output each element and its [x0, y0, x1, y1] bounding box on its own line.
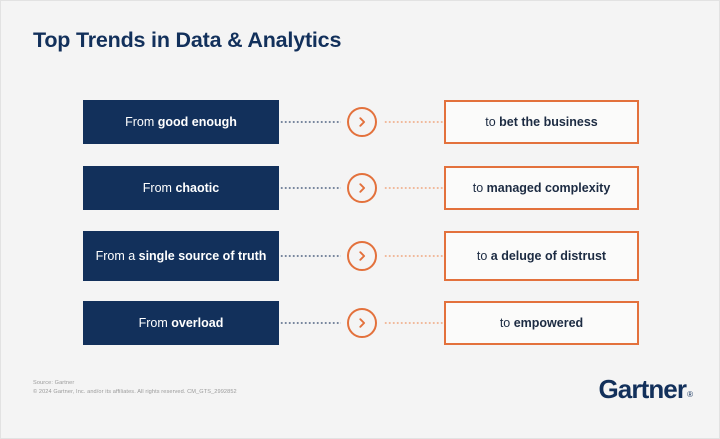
trend-row: From overload to empowered [1, 301, 720, 345]
from-box-label: From chaotic [143, 181, 219, 196]
to-box-label: to bet the business [485, 115, 598, 130]
chevron-right-icon [347, 308, 377, 338]
page-title: Top Trends in Data & Analytics [33, 28, 341, 53]
to-box-label: to managed complexity [473, 181, 611, 196]
trend-row: From good enough to bet the business [1, 100, 720, 144]
trend-row: From a single source of truth to a delug… [1, 231, 720, 281]
row-connector [279, 100, 444, 144]
chevron-right-icon [347, 107, 377, 137]
copyright-line: © 2024 Gartner, Inc. and/or its affiliat… [33, 388, 237, 397]
from-box-label: From good enough [125, 115, 237, 130]
dotted-line-left [279, 255, 341, 257]
from-box: From overload [83, 301, 279, 345]
slide-canvas: Top Trends in Data & Analytics From good… [0, 0, 720, 439]
from-box: From chaotic [83, 166, 279, 210]
from-box-label: From a single source of truth [96, 249, 267, 264]
source-line: Source: Gartner [33, 379, 237, 388]
row-connector [279, 231, 444, 281]
dotted-line-left [279, 187, 341, 189]
footer-source-block: Source: Gartner © 2024 Gartner, Inc. and… [33, 379, 237, 396]
from-box: From good enough [83, 100, 279, 144]
to-box: to managed complexity [444, 166, 639, 210]
row-connector [279, 166, 444, 210]
to-box-label: to a deluge of distrust [477, 249, 606, 264]
dotted-line-right [383, 121, 445, 123]
from-box-label: From overload [139, 316, 224, 331]
to-box: to a deluge of distrust [444, 231, 639, 281]
to-box: to bet the business [444, 100, 639, 144]
to-box: to empowered [444, 301, 639, 345]
chevron-right-icon [347, 173, 377, 203]
registered-trademark-icon: ® [687, 391, 693, 399]
dotted-line-right [383, 322, 445, 324]
from-box: From a single source of truth [83, 231, 279, 281]
gartner-logo: Gartner ® [598, 376, 693, 402]
logo-wordmark: Gartner [598, 376, 686, 402]
trend-row: From chaotic to managed complexity [1, 166, 720, 210]
row-connector [279, 301, 444, 345]
dotted-line-left [279, 121, 341, 123]
to-box-label: to empowered [500, 316, 583, 331]
chevron-right-icon [347, 241, 377, 271]
dotted-line-right [383, 255, 445, 257]
dotted-line-right [383, 187, 445, 189]
dotted-line-left [279, 322, 341, 324]
